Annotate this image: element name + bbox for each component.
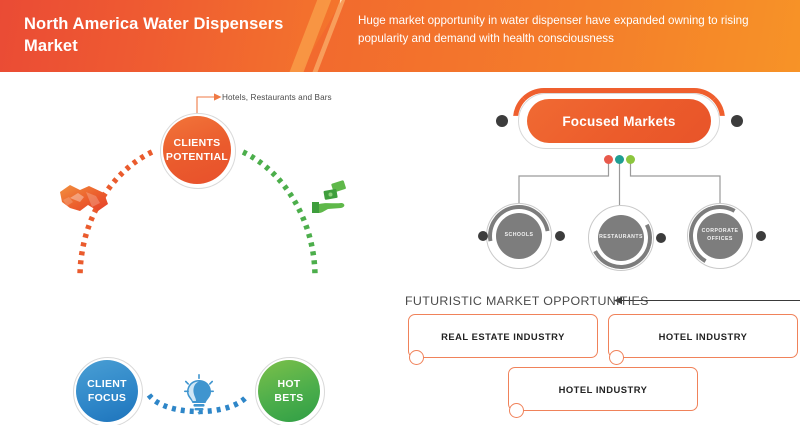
opportunity-box-real-estate-label: REAL ESTATE INDUSTRY: [441, 331, 565, 342]
opportunity-box-real-estate[interactable]: REAL ESTATE INDUSTRY: [408, 314, 598, 358]
node-hot-bets-label: HOTBETS: [274, 377, 303, 405]
infographic-page: North America Water Dispensers Market Hu…: [0, 0, 800, 425]
callout-clients-potential: Hotels, Restaurants and Bars: [222, 92, 332, 104]
connector-dot-red: [604, 155, 613, 164]
schools-dot-right: [555, 231, 565, 241]
corporate-offices-label: CORPORATEOFFICES: [702, 228, 739, 244]
opportunity-box-hotel-2-notch: [509, 403, 524, 418]
focused-markets-label: Focused Markets: [562, 114, 675, 129]
corporate-offices-dot-right: [756, 231, 766, 241]
lightbulb-icon: [182, 374, 216, 418]
opportunities-title: FUTURISTIC MARKET OPPORTUNITIES: [405, 294, 649, 308]
node-clients-potential-label: CLIENTSPOTENTIAL: [166, 136, 228, 164]
stem-corporate-offices: [631, 160, 721, 203]
cycle-diagram: CLIENTSPOTENTIAL CLIENTFOCUS HOTBETS Hot…: [0, 72, 400, 425]
node-client-focus-label: CLIENTFOCUS: [87, 377, 127, 405]
opportunity-box-hotel-2[interactable]: HOTEL INDUSTRY: [508, 367, 698, 411]
page-title: North America Water Dispensers Market: [24, 13, 324, 58]
money-hand-icon: [310, 180, 354, 220]
focused-markets-button[interactable]: Focused Markets: [527, 99, 711, 143]
node-clients-potential[interactable]: CLIENTSPOTENTIAL: [163, 116, 231, 184]
restaurants-label: RESTAURANTS: [599, 234, 643, 242]
header-banner: North America Water Dispensers Market Hu…: [0, 0, 800, 72]
connector-dot-green: [626, 155, 635, 164]
handshake-icon: [58, 178, 110, 218]
restaurants-dot-right: [656, 233, 666, 243]
opportunity-box-hotel-1-notch: [609, 350, 624, 365]
opportunity-box-hotel-1-label: HOTEL INDUSTRY: [659, 331, 748, 342]
schools-dot-left: [478, 231, 488, 241]
arc-green: [243, 152, 315, 277]
node-client-focus[interactable]: CLIENTFOCUS: [76, 360, 138, 422]
opportunity-box-hotel-2-label: HOTEL INDUSTRY: [559, 384, 648, 395]
stem-schools: [519, 160, 609, 203]
opportunity-box-real-estate-notch: [409, 350, 424, 365]
opportunity-box-hotel-1[interactable]: HOTEL INDUSTRY: [608, 314, 798, 358]
right-panel: Focused Markets SCHOOLS RESTAURANTS: [400, 72, 800, 425]
connector-dot-teal: [615, 155, 624, 164]
node-hot-bets[interactable]: HOTBETS: [258, 360, 320, 422]
header-subtitle: Huge market opportunity in water dispens…: [358, 12, 778, 48]
focused-markets-dot-left: [496, 115, 508, 127]
schools-label: SCHOOLS: [505, 232, 534, 240]
arrowhead-clients: [214, 93, 222, 100]
focused-markets-dot-right: [731, 115, 743, 127]
